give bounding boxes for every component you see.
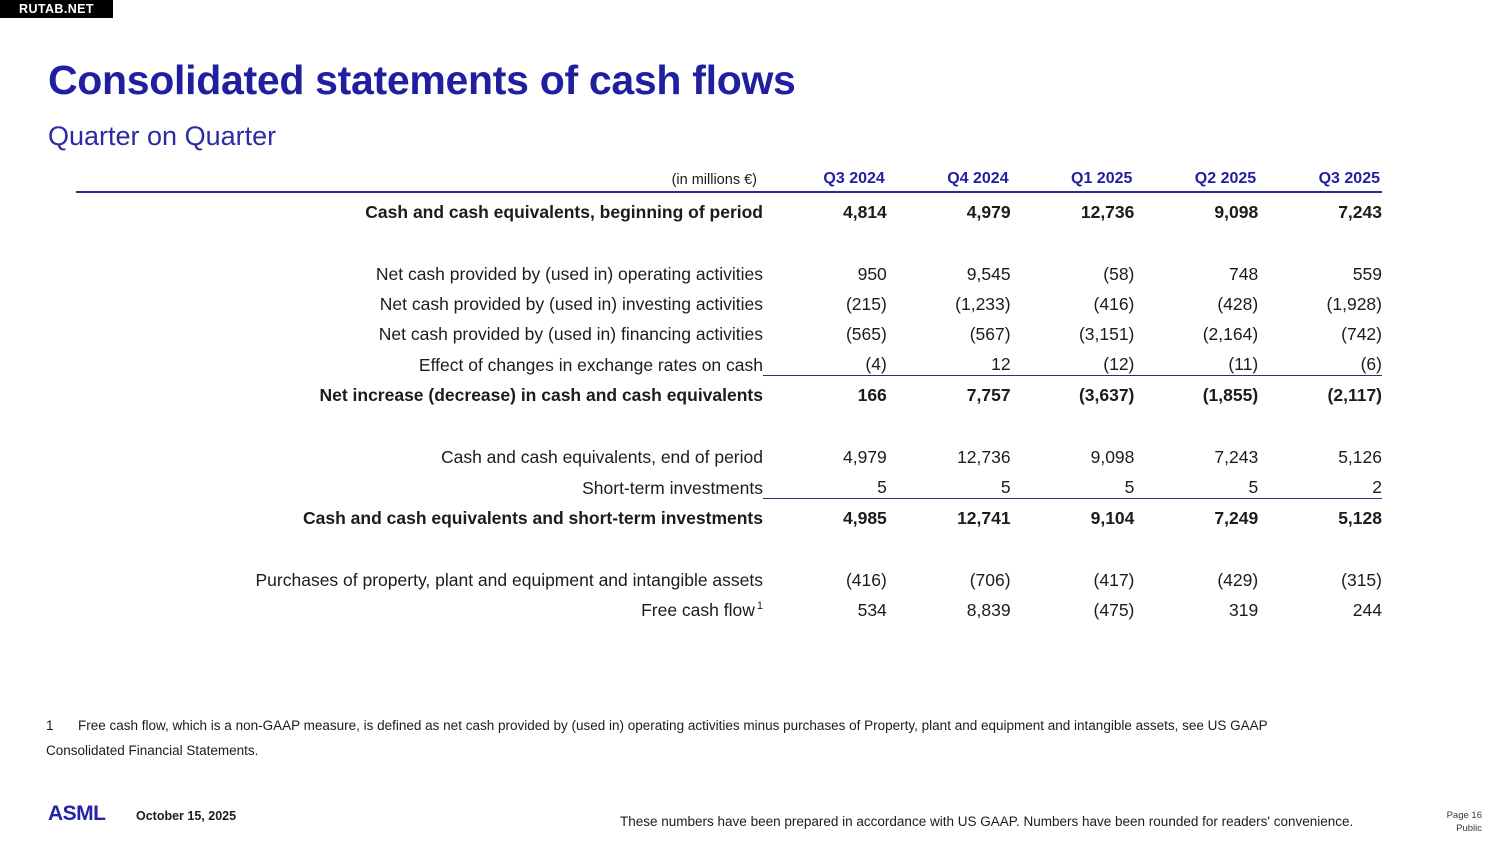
spacer-cell <box>1258 529 1382 561</box>
cell-net-increase-q4-2024: 7,757 <box>887 376 1011 407</box>
cell-cash-sti-q2-2025: 7,249 <box>1134 499 1258 530</box>
table-row: Cash and cash equivalents, beginning of … <box>76 192 1382 223</box>
cell-fx-q4-2024: 12 <box>887 345 1011 376</box>
units-label: (in millions €) <box>76 170 763 192</box>
spacer-cell <box>1134 223 1258 255</box>
column-header-q3-2024: Q3 2024 <box>763 170 887 192</box>
spacer-cell <box>1134 406 1258 438</box>
footnote-block: 1 Free cash flow, which is a non-GAAP me… <box>46 713 1346 763</box>
cell-investing-q2-2025: (428) <box>1134 285 1258 315</box>
spacer-cell <box>76 406 763 438</box>
cell-ppe-q4-2024: (706) <box>887 561 1011 591</box>
spacer-cell <box>887 529 1011 561</box>
table-spacer-row <box>76 406 1382 438</box>
footer-date: October 15, 2025 <box>136 809 236 823</box>
watermark-text: RUTAB.NET <box>19 2 94 16</box>
cell-investing-q3-2025: (1,928) <box>1258 285 1382 315</box>
table-row: Short-term investments 5 5 5 5 2 <box>76 468 1382 499</box>
cell-fx-q3-2025: (6) <box>1258 345 1382 376</box>
cell-ppe-q2-2025: (429) <box>1134 561 1258 591</box>
column-header-q4-2024: Q4 2024 <box>887 170 1011 192</box>
cell-sti-q3-2024: 5 <box>763 468 887 499</box>
cell-fcf-q4-2024: 8,839 <box>887 591 1011 621</box>
cell-fx-q3-2024: (4) <box>763 345 887 376</box>
table-row: Net cash provided by (used in) operating… <box>76 255 1382 285</box>
footnote-text: Free cash flow, which is a non-GAAP meas… <box>46 718 1267 758</box>
spacer-cell <box>763 529 887 561</box>
table-row: Purchases of property, plant and equipme… <box>76 561 1382 591</box>
table-row: Effect of changes in exchange rates on c… <box>76 345 1382 376</box>
cell-beginning-q3-2025: 7,243 <box>1258 192 1382 223</box>
cell-net-increase-q3-2024: 166 <box>763 376 887 407</box>
cell-ppe-q3-2024: (416) <box>763 561 887 591</box>
spacer-cell <box>1011 529 1135 561</box>
spacer-cell <box>763 406 887 438</box>
cell-fcf-q1-2025: (475) <box>1011 591 1135 621</box>
asml-logo: ASML <box>48 802 106 826</box>
row-label-free-cash-flow: Free cash flow1 <box>76 591 763 621</box>
classification-label: Public <box>1447 822 1482 835</box>
footnote-number: 1 <box>46 713 68 738</box>
cell-financing-q2-2025: (2,164) <box>1134 315 1258 345</box>
cell-cash-sti-q3-2024: 4,985 <box>763 499 887 530</box>
cell-investing-q4-2024: (1,233) <box>887 285 1011 315</box>
row-label-free-cash-flow-text: Free cash flow <box>641 600 755 620</box>
page-number: Page 16 <box>1447 809 1482 822</box>
column-header-q3-2025: Q3 2025 <box>1258 170 1382 192</box>
cell-sti-q2-2025: 5 <box>1134 468 1258 499</box>
cell-ppe-q1-2025: (417) <box>1011 561 1135 591</box>
cell-operating-q3-2025: 559 <box>1258 255 1382 285</box>
cell-operating-q3-2024: 950 <box>763 255 887 285</box>
cell-sti-q1-2025: 5 <box>1011 468 1135 499</box>
row-label-cash-and-sti: Cash and cash equivalents and short-term… <box>76 499 763 530</box>
cell-financing-q3-2025: (742) <box>1258 315 1382 345</box>
cell-operating-q2-2025: 748 <box>1134 255 1258 285</box>
cell-sti-q4-2024: 5 <box>887 468 1011 499</box>
spacer-cell <box>887 406 1011 438</box>
cash-flow-table: (in millions €) Q3 2024 Q4 2024 Q1 2025 … <box>76 170 1382 621</box>
cell-end-q3-2024: 4,979 <box>763 438 887 468</box>
column-header-q2-2025: Q2 2025 <box>1134 170 1258 192</box>
row-label-end-of-period: Cash and cash equivalents, end of period <box>76 438 763 468</box>
table-row: Free cash flow1 534 8,839 (475) 319 244 <box>76 591 1382 621</box>
table-row: Cash and cash equivalents, end of period… <box>76 438 1382 468</box>
cash-flow-table-container: (in millions €) Q3 2024 Q4 2024 Q1 2025 … <box>76 170 1382 621</box>
spacer-cell <box>887 223 1011 255</box>
cell-fcf-q3-2024: 534 <box>763 591 887 621</box>
cell-cash-sti-q1-2025: 9,104 <box>1011 499 1135 530</box>
footer-page-info: Page 16 Public <box>1447 809 1482 835</box>
row-label-beginning-of-period: Cash and cash equivalents, beginning of … <box>76 192 763 223</box>
row-label-short-term-investments: Short-term investments <box>76 468 763 499</box>
cell-end-q3-2025: 5,126 <box>1258 438 1382 468</box>
footnote-marker-free-cash-flow: 1 <box>755 600 763 612</box>
row-label-exchange-rate-effect: Effect of changes in exchange rates on c… <box>76 345 763 376</box>
cell-beginning-q3-2024: 4,814 <box>763 192 887 223</box>
spacer-cell <box>1258 223 1382 255</box>
cell-beginning-q2-2025: 9,098 <box>1134 192 1258 223</box>
cell-net-increase-q3-2025: (2,117) <box>1258 376 1382 407</box>
spacer-cell <box>76 529 763 561</box>
cell-financing-q1-2025: (3,151) <box>1011 315 1135 345</box>
cell-net-increase-q1-2025: (3,637) <box>1011 376 1135 407</box>
cell-beginning-q1-2025: 12,736 <box>1011 192 1135 223</box>
cell-end-q2-2025: 7,243 <box>1134 438 1258 468</box>
cell-fx-q2-2025: (11) <box>1134 345 1258 376</box>
cell-fcf-q2-2025: 319 <box>1134 591 1258 621</box>
table-spacer-row <box>76 529 1382 561</box>
row-label-investing-activities: Net cash provided by (used in) investing… <box>76 285 763 315</box>
table-row: Net cash provided by (used in) financing… <box>76 315 1382 345</box>
page-subtitle: Quarter on Quarter <box>48 121 276 152</box>
cell-cash-sti-q4-2024: 12,741 <box>887 499 1011 530</box>
spacer-cell <box>763 223 887 255</box>
table-row: Net cash provided by (used in) investing… <box>76 285 1382 315</box>
cell-operating-q1-2025: (58) <box>1011 255 1135 285</box>
cell-cash-sti-q3-2025: 5,128 <box>1258 499 1382 530</box>
cell-financing-q4-2024: (567) <box>887 315 1011 345</box>
cell-fx-q1-2025: (12) <box>1011 345 1135 376</box>
cell-investing-q3-2024: (215) <box>763 285 887 315</box>
cell-fcf-q3-2025: 244 <box>1258 591 1382 621</box>
page-title: Consolidated statements of cash flows <box>48 57 796 104</box>
row-label-operating-activities: Net cash provided by (used in) operating… <box>76 255 763 285</box>
column-header-q1-2025: Q1 2025 <box>1011 170 1135 192</box>
cell-ppe-q3-2025: (315) <box>1258 561 1382 591</box>
spacer-cell <box>1011 406 1135 438</box>
spacer-cell <box>76 223 763 255</box>
row-label-purchases-ppe: Purchases of property, plant and equipme… <box>76 561 763 591</box>
cell-end-q1-2025: 9,098 <box>1011 438 1135 468</box>
table-header-row: (in millions €) Q3 2024 Q4 2024 Q1 2025 … <box>76 170 1382 192</box>
cell-net-increase-q2-2025: (1,855) <box>1134 376 1258 407</box>
spacer-cell <box>1011 223 1135 255</box>
cell-beginning-q4-2024: 4,979 <box>887 192 1011 223</box>
cell-end-q4-2024: 12,736 <box>887 438 1011 468</box>
spacer-cell <box>1134 529 1258 561</box>
cell-operating-q4-2024: 9,545 <box>887 255 1011 285</box>
row-label-net-increase: Net increase (decrease) in cash and cash… <box>76 376 763 407</box>
cell-sti-q3-2025: 2 <box>1258 468 1382 499</box>
table-spacer-row <box>76 223 1382 255</box>
spacer-cell <box>1258 406 1382 438</box>
cell-investing-q1-2025: (416) <box>1011 285 1135 315</box>
footer-disclaimer: These numbers have been prepared in acco… <box>620 814 1353 829</box>
cell-financing-q3-2024: (565) <box>763 315 887 345</box>
table-row: Cash and cash equivalents and short-term… <box>76 499 1382 530</box>
table-row: Net increase (decrease) in cash and cash… <box>76 376 1382 407</box>
site-watermark: RUTAB.NET <box>0 0 113 18</box>
row-label-financing-activities: Net cash provided by (used in) financing… <box>76 315 763 345</box>
